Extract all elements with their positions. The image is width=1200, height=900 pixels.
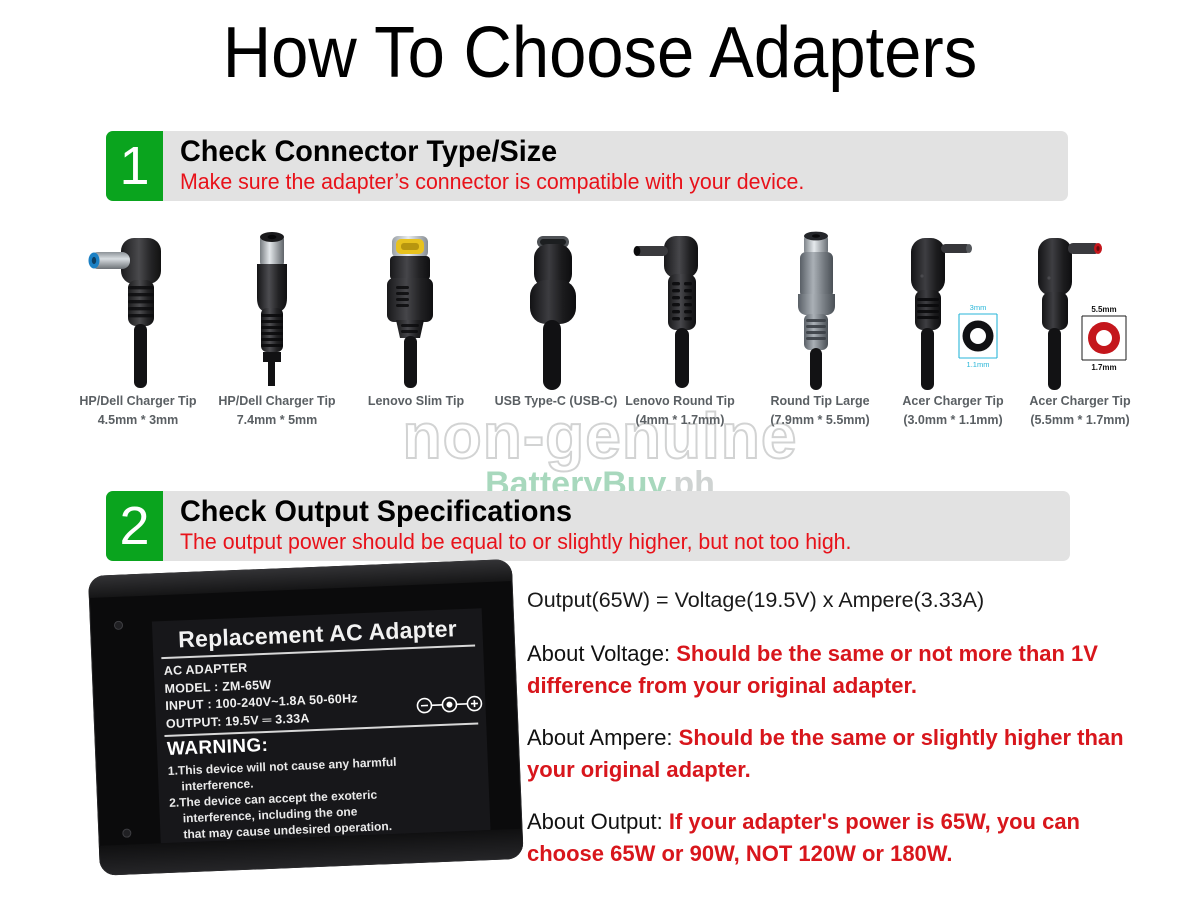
connector-size: (7.9mm * 5.5mm) <box>746 411 894 430</box>
step-1-text-group: Check Connector Type/Size Make sure the … <box>180 131 1062 201</box>
page-title: How To Choose Adapters <box>42 14 1158 92</box>
step-1-subheading: Make sure the adapter’s connector is com… <box>180 168 1036 195</box>
infographic-page: How To Choose Adapters 1 Check Connector… <box>0 0 1200 900</box>
adapter-warning-list: 1.This device will not cause any harmful… <box>168 751 471 843</box>
adapter-screw-bottom <box>122 828 131 837</box>
step-2-text-group: Check Output Specifications The output p… <box>180 491 1064 561</box>
connector-caption: Acer Charger Tip (5.5mm * 1.7mm) <box>1006 392 1154 430</box>
connector-caption: Acer Charger Tip (3.0mm * 1.1mm) <box>879 392 1027 430</box>
svg-text:1.1mm: 1.1mm <box>967 360 990 369</box>
connector-item-lenovo-slim: Lenovo Slim Tip <box>356 230 476 445</box>
connector-size: (4mm * 1.7mm) <box>606 411 754 430</box>
step-2-header-bar: 2 Check Output Specifications The output… <box>106 491 1070 561</box>
connector-item-usb-c: USB Type-C (USB-C) <box>496 230 616 445</box>
center-positive-polarity-icon <box>413 692 486 717</box>
connector-item-round-large: Round Tip Large (7.9mm * 5.5mm) <box>760 230 880 445</box>
connector-item-acer-5-5mm: 5.5mm 1.7mm Acer Charger Tip (5.5mm * 1.… <box>1020 230 1140 445</box>
output-equation: Output(65W) = Voltage(19.5V) x Ampere(3.… <box>527 586 1127 614</box>
output-specifications-text: Output(65W) = Voltage(19.5V) x Ampere(3.… <box>527 586 1127 890</box>
connector-size: 7.4mm * 5mm <box>203 411 351 430</box>
connector-caption: HP/Dell Charger Tip 4.5mm * 3mm <box>64 392 212 430</box>
adapter-body: Replacement AC Adapter AC ADAPTER MODEL … <box>88 559 524 876</box>
step-2-heading: Check Output Specifications <box>180 491 1029 528</box>
connector-item-acer-3mm: 3mm 1.1mm Acer Charger Tip (3.0mm * 1.1m… <box>893 230 1013 445</box>
connector-size: 4.5mm * 3mm <box>64 411 212 430</box>
connector-name: Lenovo Round Tip <box>606 392 754 411</box>
lenovo-slim-rectangular-tip-icon <box>356 230 476 390</box>
connector-name: Round Tip Large <box>746 392 894 411</box>
acer-5-5mm-dimension-callout: 5.5mm 1.7mm <box>1082 305 1126 372</box>
connector-size: (5.5mm * 1.7mm) <box>1006 411 1154 430</box>
connector-caption: Lenovo Slim Tip <box>342 392 490 411</box>
lenovo-round-right-angle-tip-icon <box>620 230 740 390</box>
connector-name: Acer Charger Tip <box>1006 392 1154 411</box>
svg-text:5.5mm: 5.5mm <box>1091 305 1116 314</box>
connector-item-hp-dell-7-4mm: HP/Dell Charger Tip 7.4mm * 5mm <box>217 230 337 445</box>
connector-gallery: HP/Dell Charger Tip 4.5mm * 3mm <box>60 230 1150 445</box>
svg-text:1.7mm: 1.7mm <box>1091 363 1116 372</box>
about-output-paragraph: About Output: If your adapter's power is… <box>527 806 1127 870</box>
about-output-key: About Output: <box>527 809 669 834</box>
connector-size: (3.0mm * 1.1mm) <box>879 411 1027 430</box>
connector-item-hp-dell-4-5mm: HP/Dell Charger Tip 4.5mm * 3mm <box>78 230 198 445</box>
connector-caption: Round Tip Large (7.9mm * 5.5mm) <box>746 392 894 430</box>
step-2-number-badge: 2 <box>106 491 163 561</box>
hp-dell-right-angle-blue-tip-icon <box>78 230 198 390</box>
adapter-spec-label: Replacement AC Adapter AC ADAPTER MODEL … <box>152 608 491 843</box>
about-voltage-key: About Voltage: <box>527 641 676 666</box>
adapter-spec-lines: AC ADAPTER MODEL : ZM-65W INPUT : 100-24… <box>164 653 417 733</box>
acer-right-angle-red-tip-icon: 5.5mm 1.7mm <box>1020 230 1140 390</box>
adapter-warning-heading: WARNING: <box>167 735 269 761</box>
about-ampere-key: About Ampere: <box>527 725 679 750</box>
step-1-header-bar: 1 Check Connector Type/Size Make sure th… <box>106 131 1068 201</box>
acer-3mm-dimension-callout: 3mm 1.1mm <box>959 303 997 369</box>
step-1-heading: Check Connector Type/Size <box>180 131 1027 168</box>
connector-name: HP/Dell Charger Tip <box>203 392 351 411</box>
usb-type-c-connector-icon <box>496 230 616 390</box>
hp-dell-straight-barrel-tip-icon <box>217 230 337 390</box>
connector-name: Lenovo Slim Tip <box>342 392 490 411</box>
svg-text:3mm: 3mm <box>970 303 987 312</box>
step-2-subheading: The output power should be equal to or s… <box>180 528 1037 555</box>
connector-item-lenovo-round: Lenovo Round Tip (4mm * 1.7mm) <box>620 230 740 445</box>
connector-name: HP/Dell Charger Tip <box>64 392 212 411</box>
round-tip-large-gray-barrel-icon <box>760 230 880 390</box>
about-ampere-paragraph: About Ampere: Should be the same or slig… <box>527 722 1127 786</box>
step-1-number-badge: 1 <box>106 131 163 201</box>
connector-caption: Lenovo Round Tip (4mm * 1.7mm) <box>606 392 754 430</box>
connector-caption: HP/Dell Charger Tip 7.4mm * 5mm <box>203 392 351 430</box>
ac-adapter-photo: Replacement AC Adapter AC ADAPTER MODEL … <box>88 568 518 900</box>
adapter-top-highlight <box>88 559 513 598</box>
adapter-screw-top <box>114 621 123 630</box>
acer-right-angle-tip-icon: 3mm 1.1mm <box>893 230 1013 390</box>
about-voltage-paragraph: About Voltage: Should be the same or not… <box>527 638 1127 702</box>
connector-name: Acer Charger Tip <box>879 392 1027 411</box>
